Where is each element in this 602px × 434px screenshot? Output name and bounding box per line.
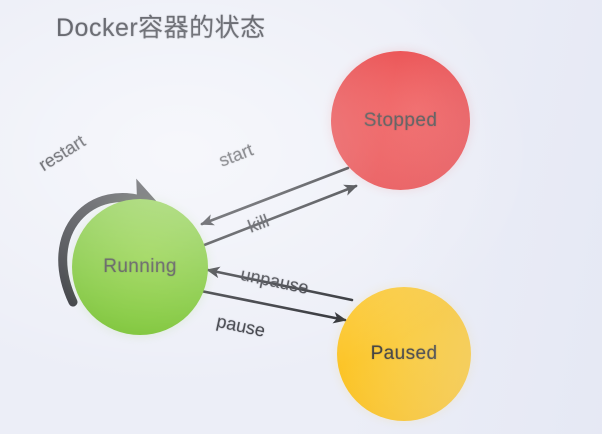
node-paused[interactable]: Paused — [337, 287, 471, 421]
node-stopped[interactable]: Stopped — [331, 51, 470, 190]
edge-start-path — [202, 168, 348, 224]
node-stopped-label: Stopped — [364, 110, 438, 132]
node-running[interactable]: Running — [72, 199, 208, 335]
diagram-canvas: Docker容器的状态 Stopped Running Paused resta… — [0, 0, 602, 434]
node-running-label: Running — [103, 256, 177, 278]
edge-layer — [0, 0, 602, 434]
node-paused-label: Paused — [371, 343, 438, 365]
